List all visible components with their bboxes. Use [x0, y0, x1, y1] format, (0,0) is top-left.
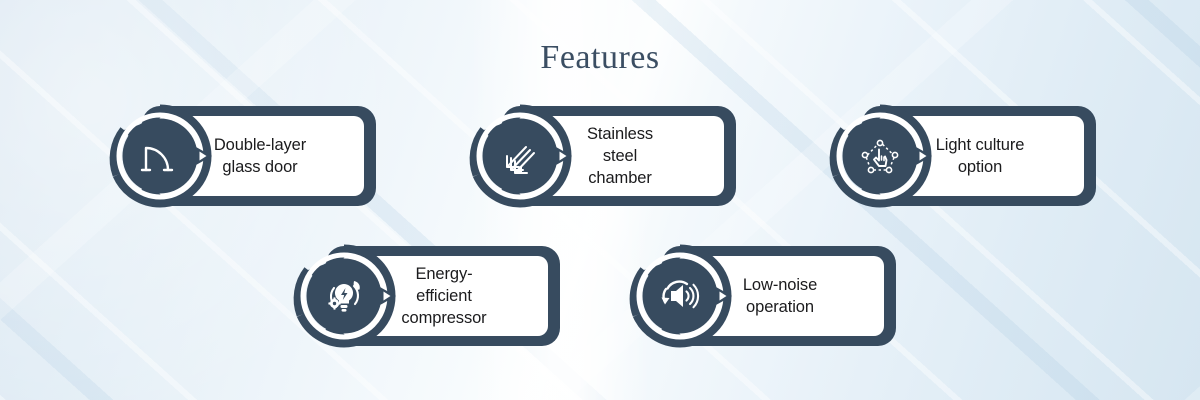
- feature-card-energy-efficient-compressor[interactable]: Energy- efficient compressor: [288, 240, 560, 352]
- feature-card-low-noise-operation[interactable]: Low-noise operation: [624, 240, 896, 352]
- eco-bulb-gear-icon: [316, 268, 372, 324]
- feature-label: Light culture option: [936, 134, 1025, 178]
- page-title: Features: [0, 38, 1200, 78]
- door-swing-icon: [132, 128, 188, 184]
- feature-label: Low-noise operation: [743, 274, 817, 318]
- feature-card-double-layer-glass-door[interactable]: Double-layer glass door: [104, 100, 376, 212]
- feature-label: Double-layer glass door: [214, 134, 306, 178]
- feature-card-light-culture-option[interactable]: Light culture option: [824, 100, 1096, 212]
- feature-card-stainless-steel-chamber[interactable]: Stainless steel chamber: [464, 100, 736, 212]
- hand-network-icon: [852, 128, 908, 184]
- feature-label: Energy- efficient compressor: [401, 263, 486, 329]
- speaker-rotate-icon: [652, 268, 708, 324]
- stacked-sheets-icon: [492, 128, 548, 184]
- feature-label: Stainless steel chamber: [587, 123, 653, 189]
- features-infographic: Features Double-layer glass doorStainles…: [0, 0, 1200, 400]
